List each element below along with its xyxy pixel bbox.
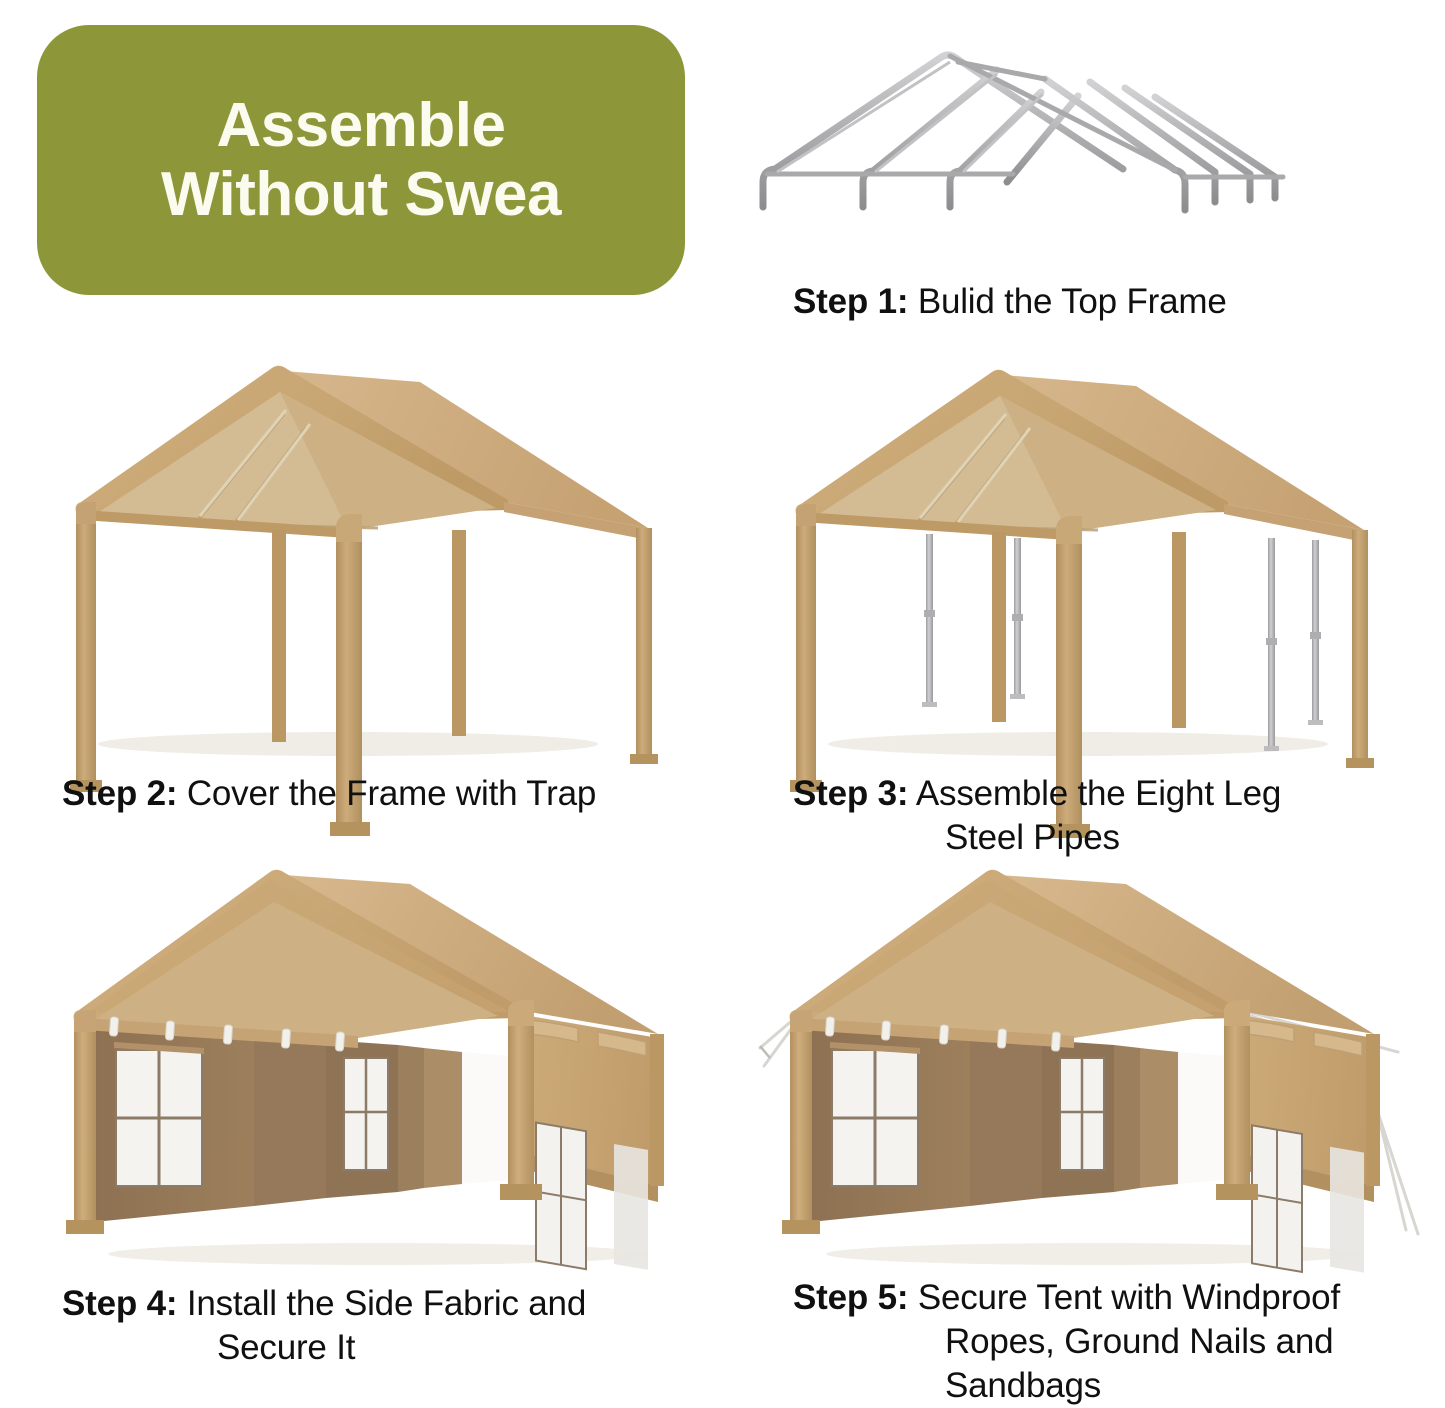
step-4-figure <box>58 862 698 1270</box>
step-4-caption: Step 4: Install the Side Fabric and Secu… <box>62 1282 586 1370</box>
headline-line-1: Assemble <box>217 91 506 160</box>
step-4-desc-line-2: Secure It <box>62 1326 586 1370</box>
step-1-figure <box>745 22 1305 237</box>
step-5-label: Step 5: <box>793 1278 908 1317</box>
step-4-desc: Install the Side Fabric and <box>177 1284 586 1323</box>
step-4-label: Step 4: <box>62 1284 177 1323</box>
step-2-figure <box>48 352 703 762</box>
step-3-label: Step 3: <box>793 774 908 813</box>
headline-badge: Assemble Without Swea <box>37 25 685 295</box>
headline-line-2: Without Swea <box>161 160 561 229</box>
step-3-caption: Step 3: Assemble the Eight Leg Steel Pip… <box>793 772 1281 860</box>
step-3-figure <box>778 352 1403 762</box>
step-5-figure <box>758 862 1423 1270</box>
step-2-desc: Cover the Frame with Trap <box>177 774 596 813</box>
step-5-caption: Step 5: Secure Tent with Windproof Ropes… <box>793 1276 1340 1408</box>
step-2-caption: Step 2: Cover the Frame with Trap <box>62 772 596 816</box>
step-1-caption: Step 1: Bulid the Top Frame <box>793 280 1227 324</box>
step-5-desc-line-3: Sandbags <box>793 1364 1340 1408</box>
headline-text: Assemble Without Swea <box>135 91 587 230</box>
step-5-desc: Secure Tent with Windproof <box>908 1278 1340 1317</box>
step-3-desc-line-2: Steel Pipes <box>793 816 1281 860</box>
step-1-desc: Bulid the Top Frame <box>908 282 1226 321</box>
step-3-desc: Assemble the Eight Leg <box>908 774 1281 813</box>
step-2-label: Step 2: <box>62 774 177 813</box>
step-1-label: Step 1: <box>793 282 908 321</box>
step-5-desc-line-2: Ropes, Ground Nails and <box>793 1320 1340 1364</box>
